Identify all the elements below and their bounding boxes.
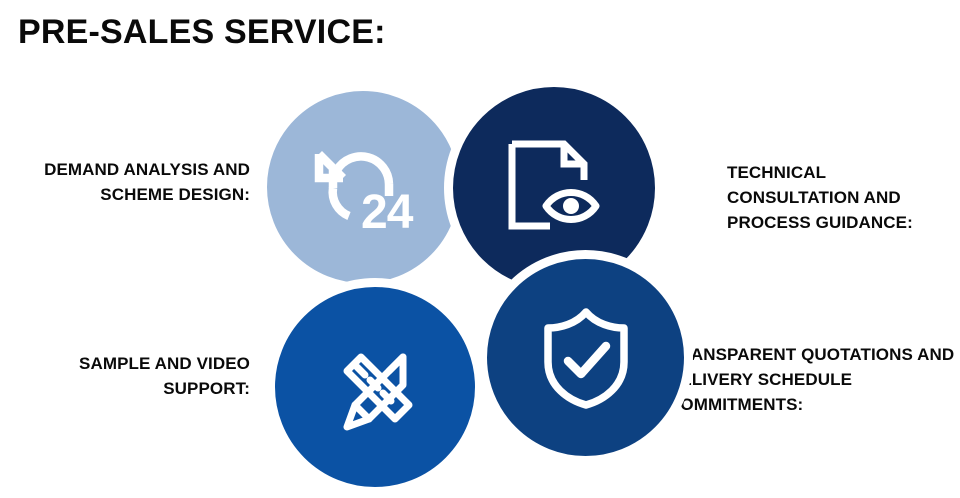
document-eye-review-icon: [506, 138, 602, 238]
shield-check-icon: [540, 306, 632, 410]
service-label-technical-consultation: TECHNICAL CONSULTATION AND PROCESS GUIDA…: [727, 160, 952, 235]
service-label-transparent-quotations: TRANSPARENT QUOTATIONS AND DELIVERY SCHE…: [668, 342, 958, 417]
pencil-ruler-design-icon: [323, 335, 427, 439]
svg-text:24: 24: [361, 186, 414, 238]
service-label-sample-video-support: SAMPLE AND VIDEO SUPPORT:: [10, 351, 250, 401]
pre-sales-service-infographic: PRE-SALES SERVICE: 24: [0, 0, 960, 498]
service-circles-cluster: 24: [258, 78, 698, 496]
service-circle-sample-video-support[interactable]: [266, 278, 484, 496]
clock-24-hours-arrow-icon: 24: [309, 136, 417, 238]
service-label-demand-analysis: DEMAND ANALYSIS AND SCHEME DESIGN:: [10, 157, 250, 207]
page-title: PRE-SALES SERVICE:: [18, 10, 386, 54]
service-circle-demand-analysis[interactable]: 24: [258, 82, 468, 292]
service-circle-transparent-quotations[interactable]: [478, 250, 693, 465]
